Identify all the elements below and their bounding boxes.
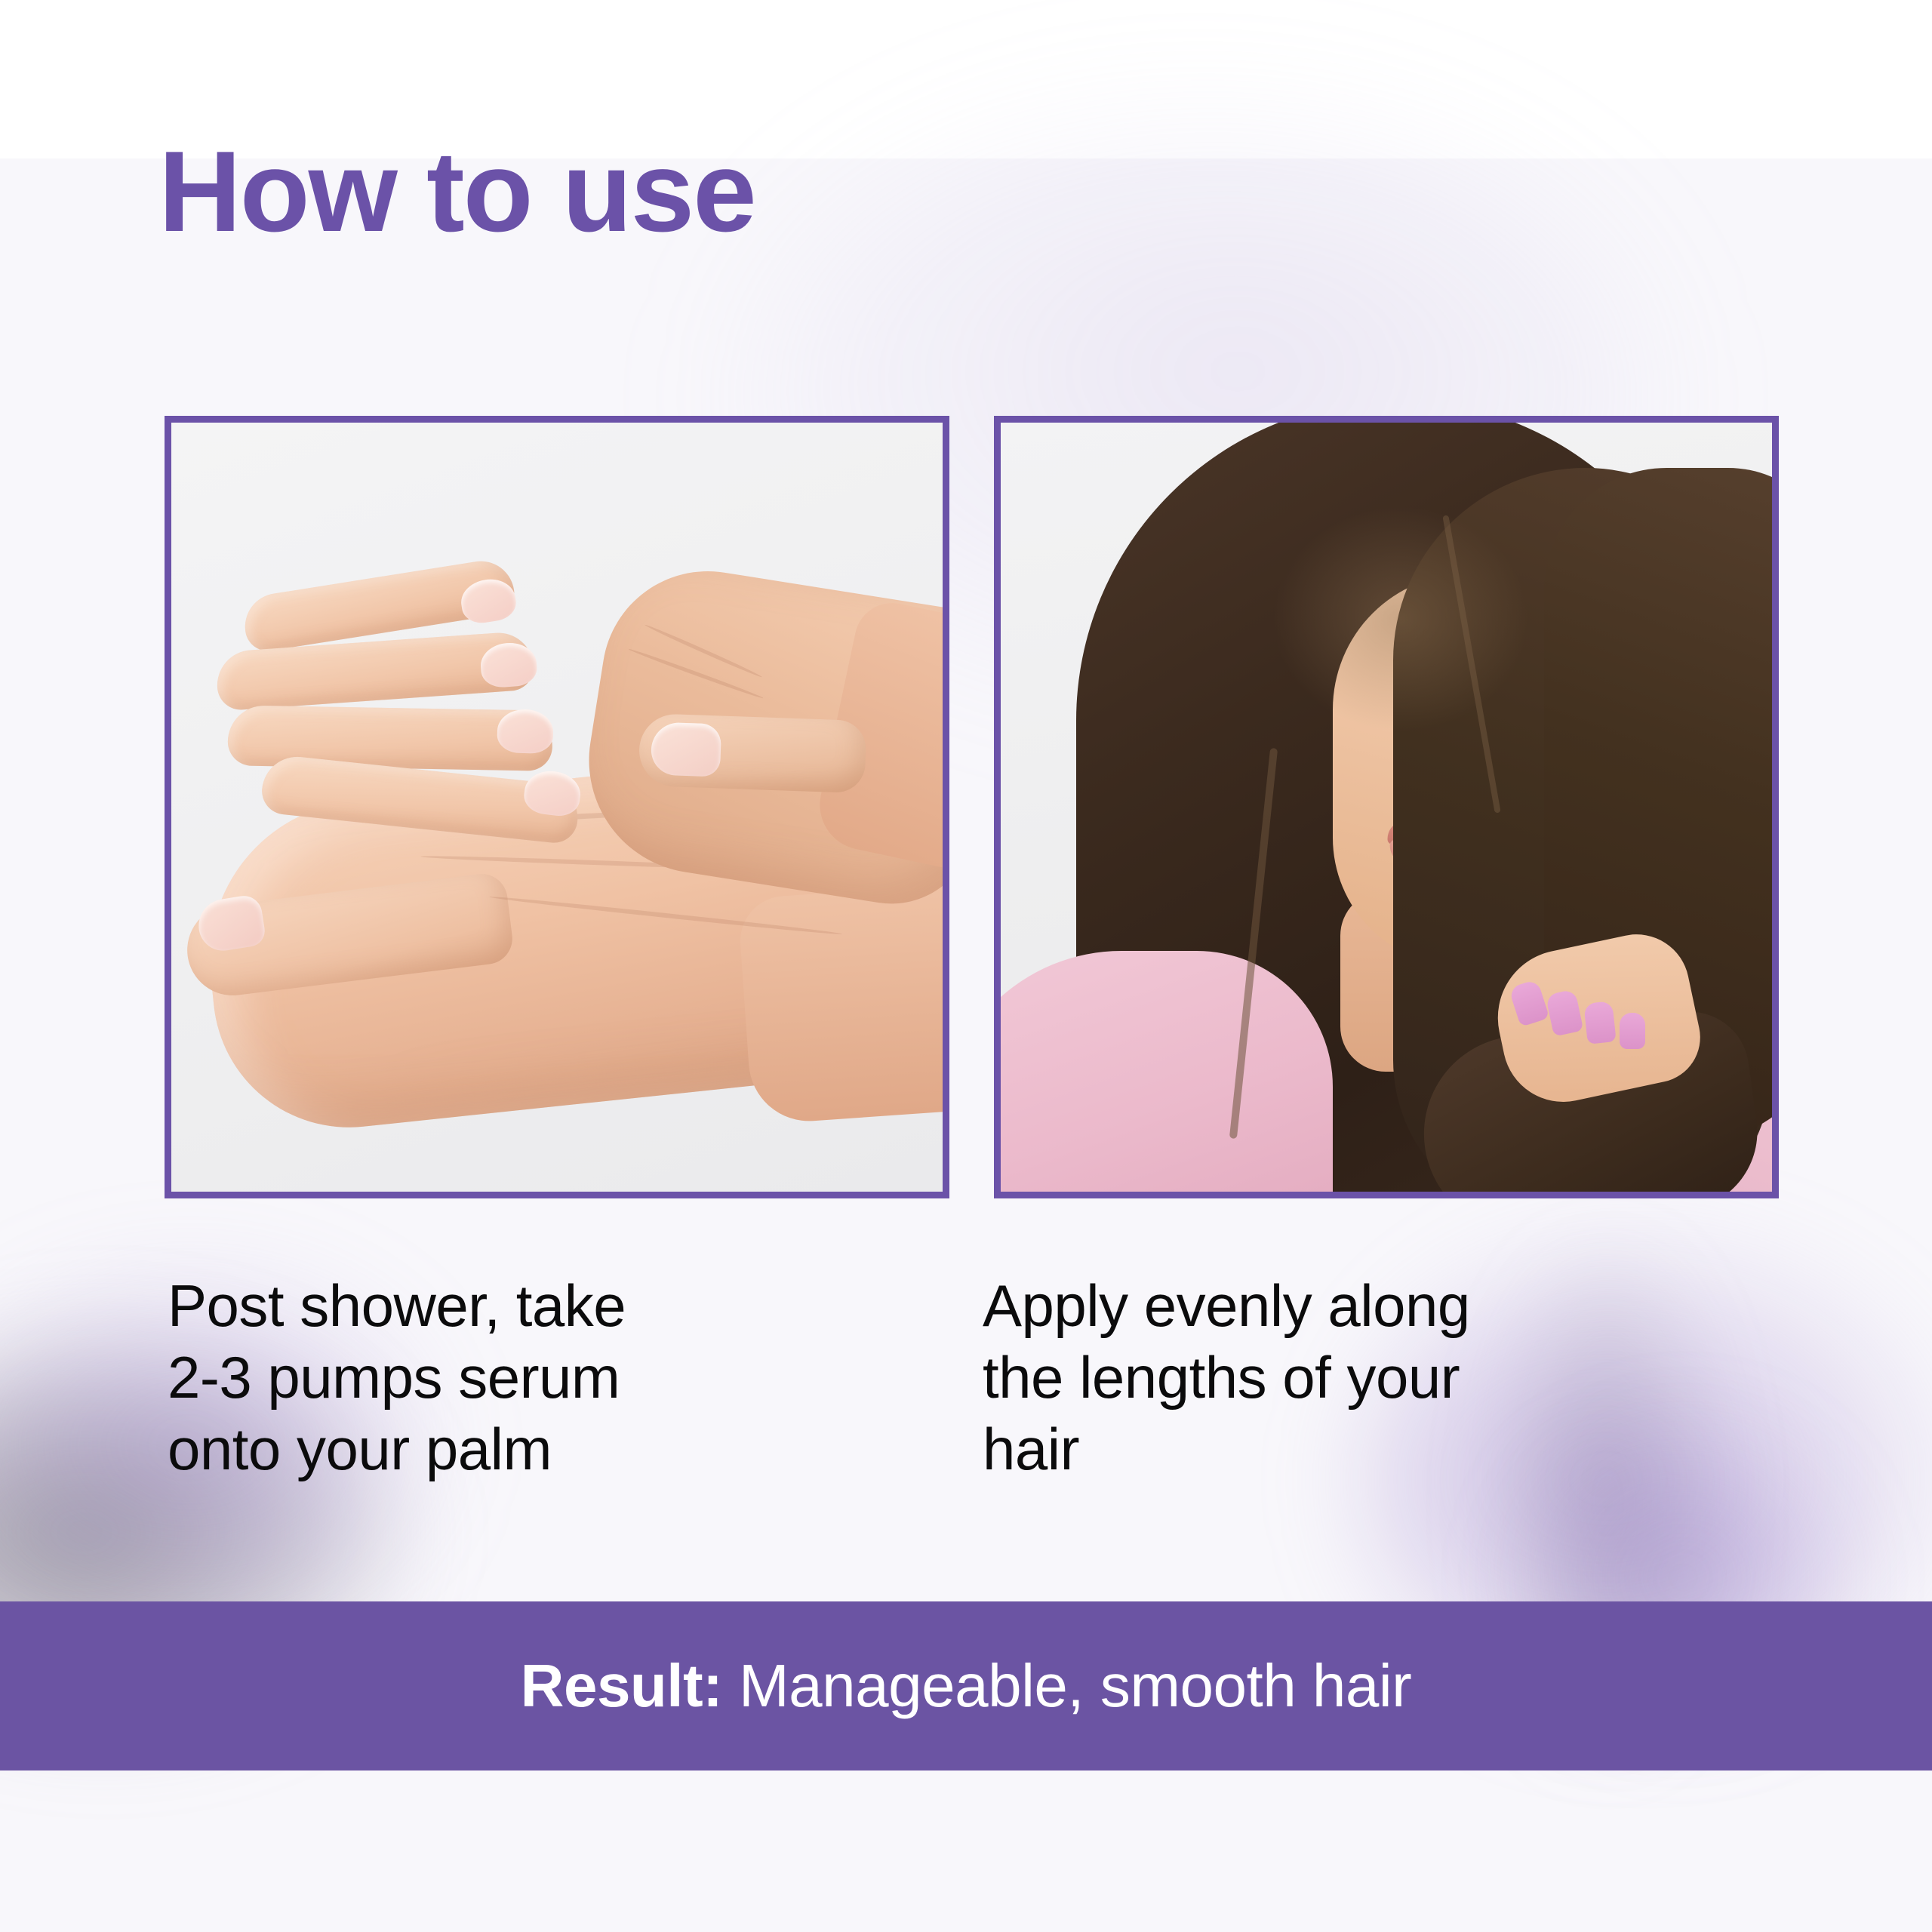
upper-thumb-nail <box>651 721 721 777</box>
hair-sheen-highlight <box>1272 506 1529 732</box>
step-2-image-frame <box>994 416 1779 1198</box>
woman-applying-serum-image <box>1001 423 1772 1192</box>
pink-fingernail <box>1620 1013 1645 1049</box>
result-banner: Result: Manageable, smooth hair <box>0 1601 1932 1770</box>
pink-top-left-shoulder <box>1001 951 1333 1192</box>
lower-hand-wrist-shape <box>737 882 943 1125</box>
step-1-image-frame <box>165 416 949 1198</box>
page-content: How to use <box>0 0 1932 1932</box>
pink-fingernail <box>1583 1001 1616 1044</box>
step-2-caption: Apply evenly along the lengths of your h… <box>983 1270 1745 1485</box>
hands-rubbing-serum-image <box>171 423 943 1192</box>
page-title: How to use <box>158 134 755 249</box>
result-label: Result: <box>521 1652 723 1719</box>
result-text: Result: Manageable, smooth hair <box>521 1651 1412 1721</box>
result-value: Manageable, smooth hair <box>722 1652 1411 1719</box>
step-1-caption: Post shower, take 2-3 pumps serum onto y… <box>168 1270 930 1485</box>
fingernail <box>497 709 554 755</box>
